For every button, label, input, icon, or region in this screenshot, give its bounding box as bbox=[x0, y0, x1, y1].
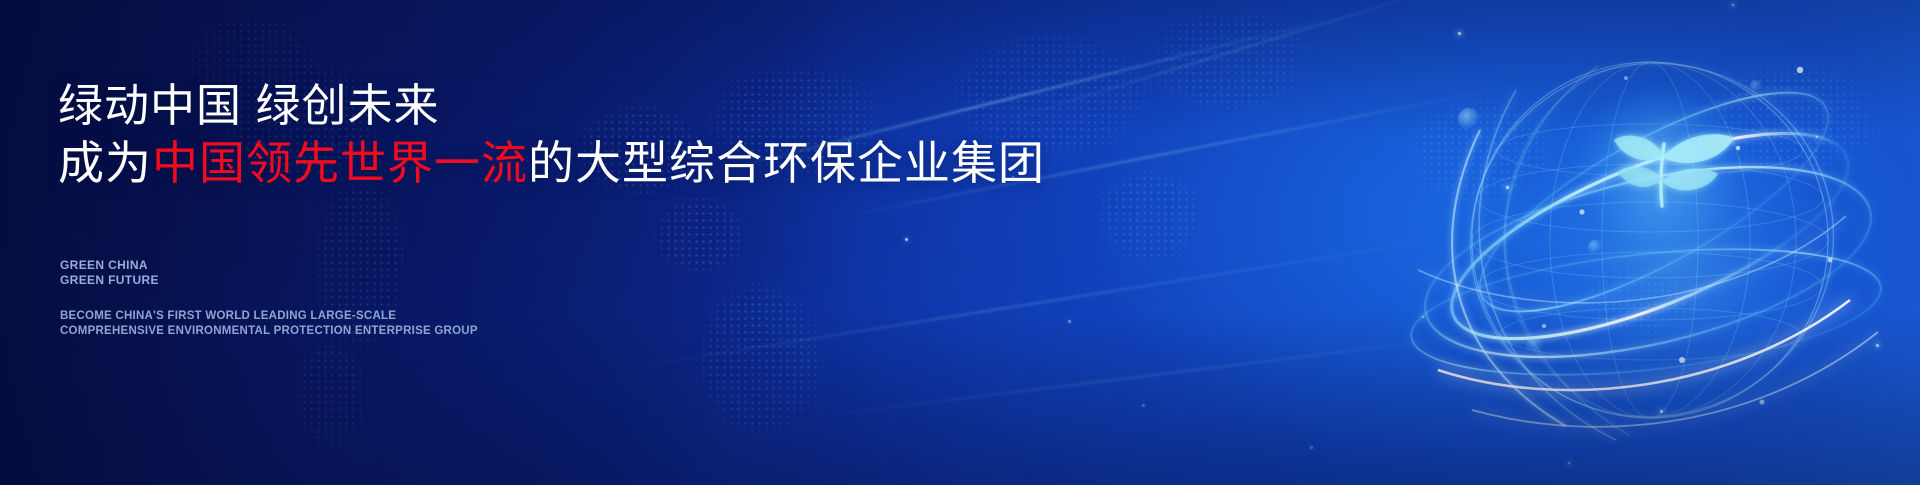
hero-banner: 绿动中国 绿创未来 成为中国领先世界一流的大型综合环保企业集团 GREEN CH… bbox=[0, 0, 1920, 485]
sub-english-line-1: GREEN CHINA bbox=[60, 258, 159, 273]
headline-line-1: 绿动中国 绿创未来 bbox=[58, 78, 1038, 134]
copy-block: 绿动中国 绿创未来 成为中国领先世界一流的大型综合环保企业集团 GREEN CH… bbox=[58, 0, 1058, 485]
headline: 绿动中国 绿创未来 成为中国领先世界一流的大型综合环保企业集团 bbox=[58, 78, 1038, 192]
sub-english-slogan: GREEN CHINA GREEN FUTURE bbox=[60, 258, 159, 288]
headline-line-2-prefix: 成为 bbox=[58, 137, 152, 189]
headline-line-2-suffix: 的大型综合环保企业集团 bbox=[528, 137, 1045, 189]
sub-english-line-2: GREEN FUTURE bbox=[60, 273, 159, 288]
headline-highlight: 中国领先世界一流 bbox=[152, 137, 528, 189]
headline-line-2: 成为中国领先世界一流的大型综合环保企业集团 bbox=[58, 134, 1038, 192]
tagline-line-1: BECOME CHINA'S FIRST WORLD LEADING LARGE… bbox=[60, 309, 478, 324]
tagline-line-2: COMPREHENSIVE ENVIRONMENTAL PROTECTION E… bbox=[60, 324, 478, 339]
tagline-english: BECOME CHINA'S FIRST WORLD LEADING LARGE… bbox=[60, 309, 478, 338]
